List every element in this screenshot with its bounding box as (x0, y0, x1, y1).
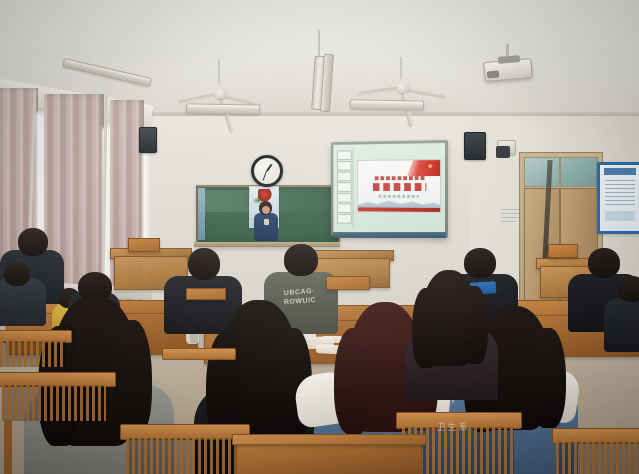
chair-front-left-slats[interactable] (2, 385, 106, 421)
poster-flower-graphic (258, 189, 272, 201)
chair-back-center-2[interactable] (186, 288, 226, 300)
door-transom-window (524, 157, 598, 187)
presenter-body (254, 213, 278, 241)
notice-board-header (604, 168, 636, 175)
chair-back-center[interactable] (326, 276, 370, 290)
desk-foreground-edge-top (232, 434, 426, 445)
slide-subtitle-top (375, 176, 425, 180)
slide-subtitle-bottom (379, 195, 419, 198)
presenter-face (262, 206, 270, 214)
presentation-slide (357, 159, 441, 213)
ceiling-fan-left (218, 60, 220, 84)
chair-left-mid-slats[interactable] (0, 341, 66, 367)
projector-lens (487, 70, 500, 78)
slide-footer-band (358, 207, 440, 212)
blackboard-chalk-tray (194, 242, 340, 247)
wall-speaker-right (464, 132, 486, 160)
slide-red-flag-banner (407, 160, 440, 176)
desk-foreground-edge (236, 440, 422, 474)
projection-screen-bottom-bar (333, 232, 446, 238)
chair-back-department-text: 卫生系 (425, 420, 481, 433)
projection-screen (333, 143, 445, 234)
classroom-photo: UBCAG· ROWUIC (0, 0, 639, 474)
tube-light-left (186, 103, 260, 114)
tube-light-right (350, 99, 424, 110)
door-transom-mullion (559, 157, 561, 185)
presenter-badge (264, 219, 269, 225)
wall-clock (251, 155, 283, 187)
wall-camera-icon (496, 146, 510, 158)
notice-board-block (605, 211, 635, 221)
chair-center-mid-top[interactable] (162, 348, 236, 360)
wall-speaker-left (139, 127, 157, 153)
blackboard-side-strip (198, 188, 205, 240)
chair-far-right-front-slats[interactable] (556, 442, 639, 474)
chair-far-left[interactable] (128, 238, 160, 252)
chair-far-right[interactable] (548, 244, 578, 258)
tshirt-graphic-text: UBCAG· ROWUIC (276, 286, 324, 315)
chair-front-left-leg (4, 420, 12, 474)
chair-front-center-slats[interactable] (126, 438, 242, 474)
notice-board (597, 162, 639, 234)
slide-title-text (373, 183, 426, 191)
hanging-lamp-rod (318, 30, 320, 58)
